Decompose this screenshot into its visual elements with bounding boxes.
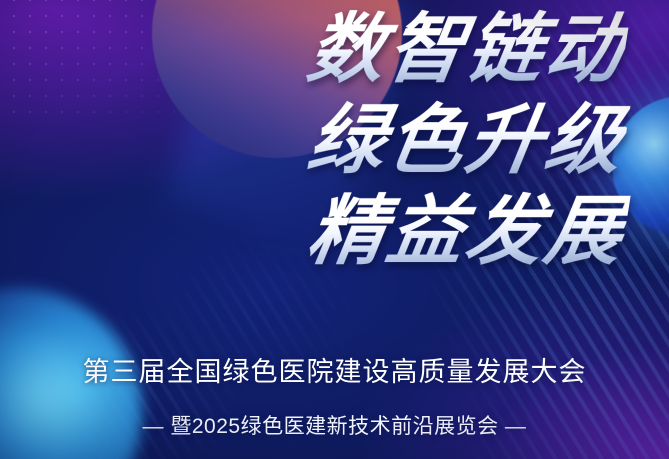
headline-line-3: 精益发展 (0, 186, 632, 277)
conference-poster: 数智链动 绿色升级 精益发展 第三届全国绿色医院建设高质量发展大会 — 暨202… (0, 0, 669, 459)
headline-line-2: 绿色升级 (0, 95, 632, 186)
conference-title: 第三届全国绿色医院建设高质量发展大会 (0, 352, 669, 392)
poster-headline: 数智链动 绿色升级 精益发展 (0, 4, 669, 277)
exhibition-subtitle: — 暨2025绿色医建新技术前沿展览会 — (0, 412, 669, 442)
poster-subtitle-block: 第三届全国绿色医院建设高质量发展大会 — 暨2025绿色医建新技术前沿展览会 — (0, 352, 669, 442)
headline-line-1: 数智链动 (0, 4, 632, 95)
